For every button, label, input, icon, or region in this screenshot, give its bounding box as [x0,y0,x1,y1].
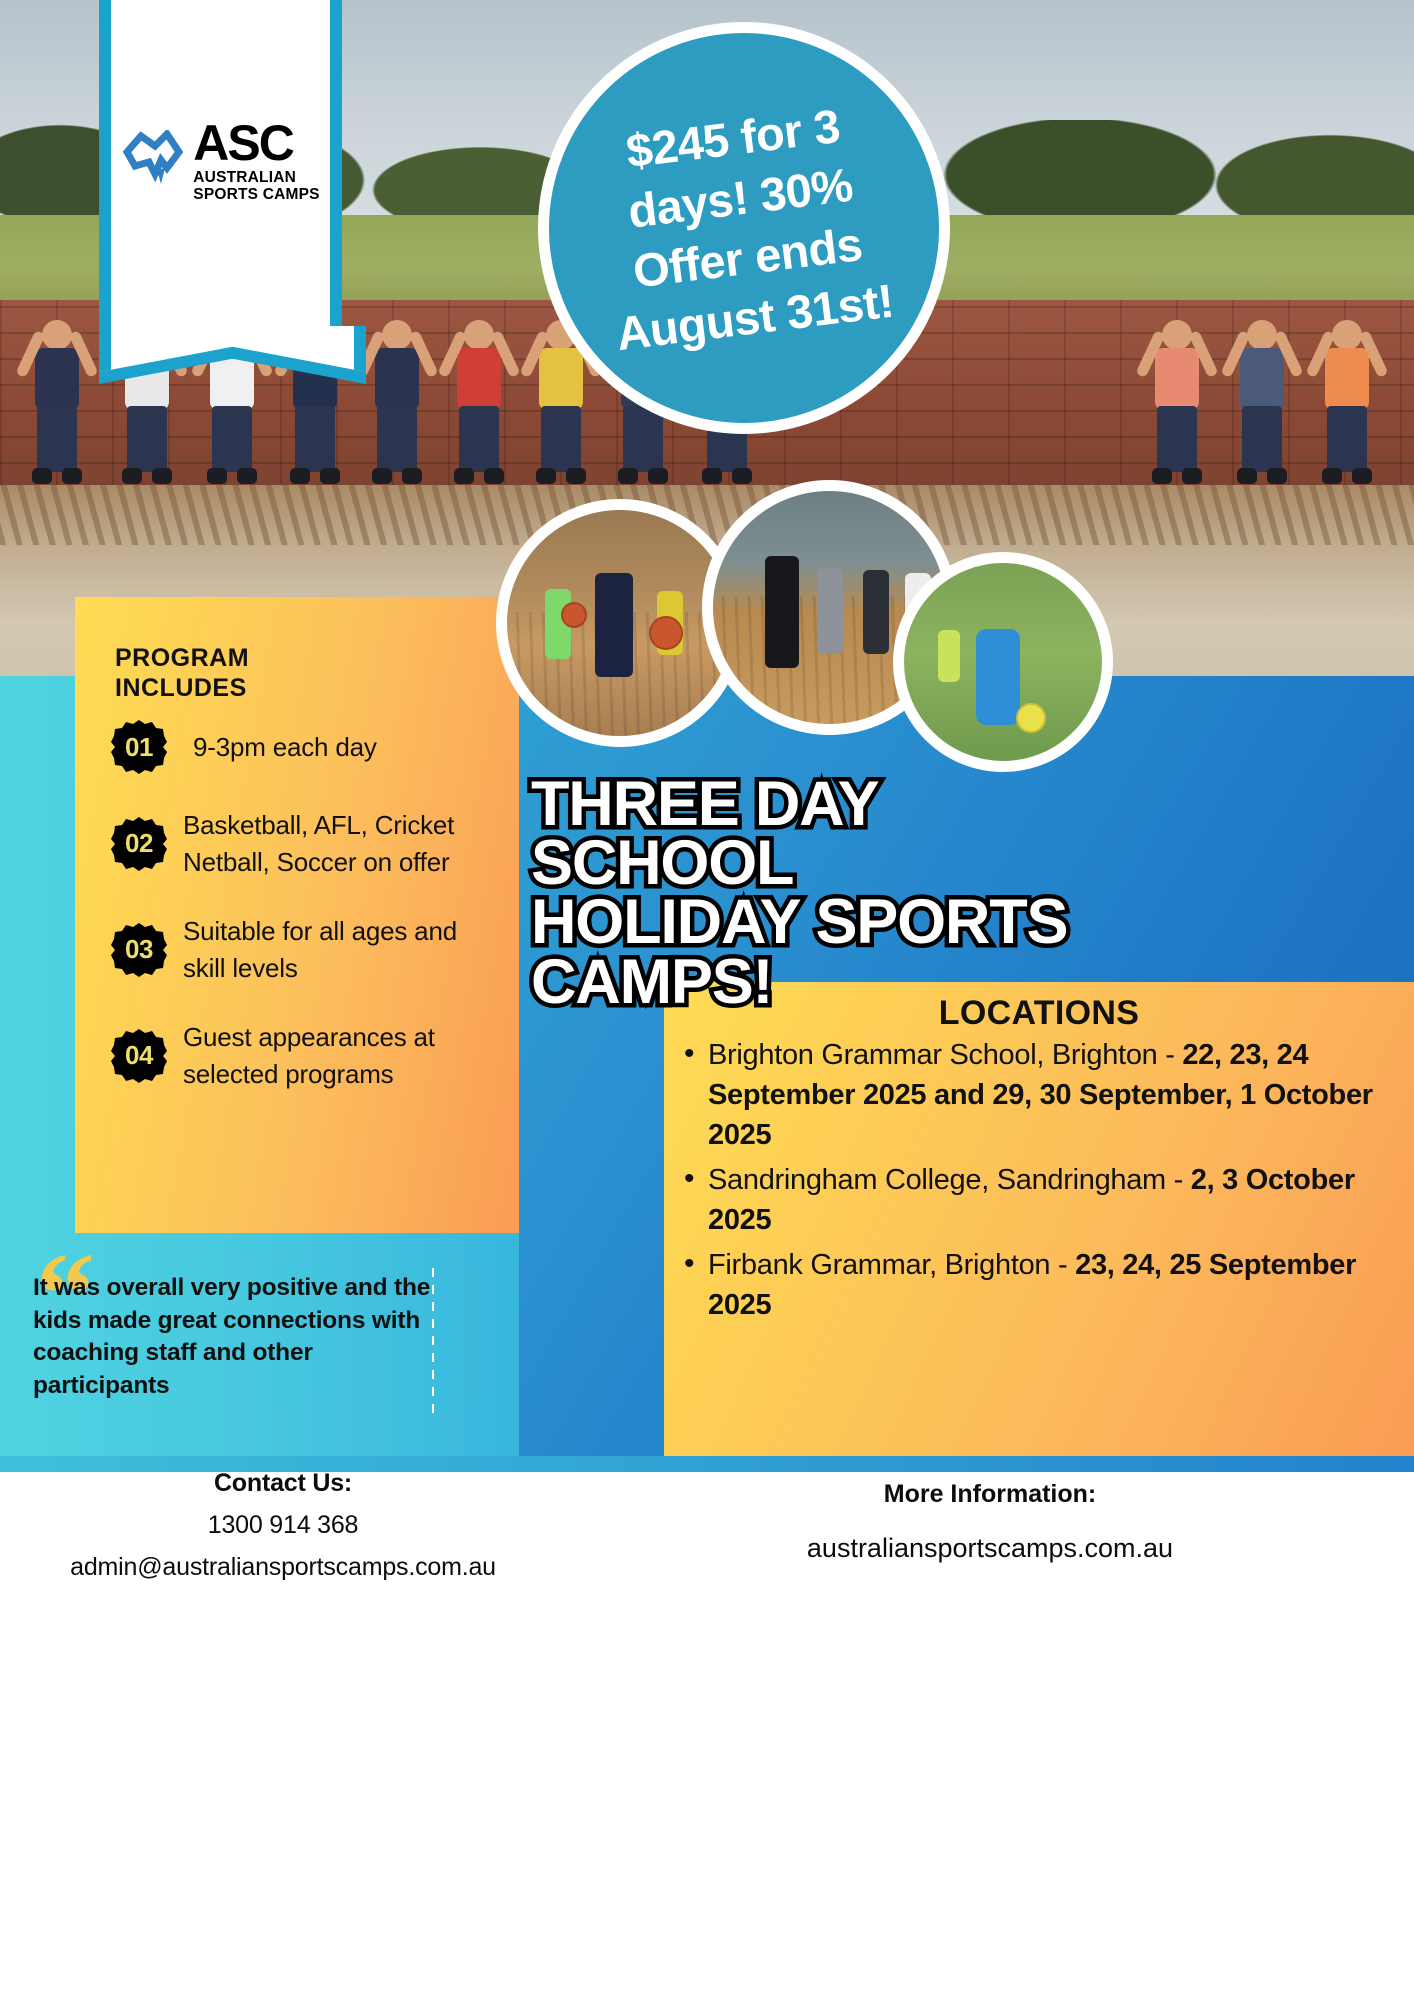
program-includes-box: PROGRAM INCLUDES 01 9-3pm each day 02 Ba… [75,597,519,1233]
program-item: 02 Basketball, AFL, Cricket Netball, Soc… [111,807,501,881]
program-item-text: Suitable for all ages and skill levels [183,913,501,987]
hero-child [1235,320,1289,490]
program-items-list: 01 9-3pm each day 02 Basketball, AFL, Cr… [111,719,501,1124]
number-badge-icon: 03 [111,922,167,978]
contact-email[interactable]: admin@australiansportscamps.com.au [0,1553,566,1582]
main-title-line1: THREE DAY [531,775,1131,834]
logo-subtitle-line1: AUSTRALIAN [193,170,319,186]
soccer-photo-circle [893,552,1113,772]
flyer-root: ASC AUSTRALIAN SPORTS CAMPS $245 for 3 d… [0,0,1414,2000]
program-heading-line1: PROGRAM [115,644,249,674]
hero-child [1320,320,1374,490]
hero-child [370,320,424,490]
location-place: Brighton Grammar School, Brighton - [708,1039,1182,1071]
location-place: Firbank Grammar, Brighton - [708,1249,1075,1281]
program-heading: PROGRAM INCLUDES [115,644,249,703]
program-item-text: 9-3pm each day [193,729,377,766]
testimonial-text: It was overall very positive and the kid… [33,1272,433,1402]
hero-child [30,320,84,490]
location-item: Sandringham College, Sandringham - 2, 3 … [708,1160,1388,1240]
number-badge-icon: 02 [111,816,167,872]
logo-asc-text: ASC [193,118,319,168]
location-item: Brighton Grammar School, Brighton - 22, … [708,1035,1388,1155]
offer-badge: $245 for 3 days! 30% Offer ends August 3… [538,22,950,434]
program-item-number: 01 [125,732,153,763]
main-title: THREE DAY SCHOOL HOLIDAY SPORTS CAMPS! [531,775,1131,1012]
footer: Contact Us: 1300 914 368 admin@australia… [0,1472,1414,2000]
testimonial-divider [432,1268,434,1420]
program-item-text: Guest appearances at selected programs [183,1019,501,1093]
hero-child [1150,320,1204,490]
locations-box: LOCATIONS Brighton Grammar School, Brigh… [664,982,1414,1456]
logo-banner: ASC AUSTRALIAN SPORTS CAMPS [99,0,342,328]
location-place: Sandringham College, Sandringham - [708,1164,1191,1196]
locations-list: Brighton Grammar School, Brighton - 22, … [686,1035,1392,1325]
program-item: 01 9-3pm each day [111,719,501,775]
location-item: Firbank Grammar, Brighton - 23, 24, 25 S… [708,1245,1388,1325]
offer-badge-text: $245 for 3 days! 30% Offer ends August 3… [566,88,923,367]
more-information-heading: More Information: [566,1480,1414,1509]
number-badge-icon: 04 [111,1028,167,1084]
main-title-line4: CAMPS! [531,953,1131,1012]
program-item-text: Basketball, AFL, Cricket Netball, Soccer… [183,807,501,881]
footer-contact-block: Contact Us: 1300 914 368 admin@australia… [0,1469,566,1582]
contact-phone[interactable]: 1300 914 368 [0,1511,566,1540]
contact-heading: Contact Us: [0,1469,566,1498]
website-link[interactable]: australiansportscamps.com.au [566,1533,1414,1564]
program-item: 03 Suitable for all ages and skill level… [111,913,501,987]
hero-child [452,320,506,490]
program-item-number: 04 [125,1040,153,1071]
program-item-number: 03 [125,934,153,965]
program-heading-line2: INCLUDES [115,674,249,704]
footer-more-info-block: More Information: australiansportscamps.… [566,1480,1414,1564]
logo-subtitle-line2: SPORTS CAMPS [193,187,319,203]
number-badge-icon: 01 [111,719,167,775]
program-item: 04 Guest appearances at selected program… [111,1019,501,1093]
australia-map-icon [121,130,185,190]
main-title-line3: HOLIDAY SPORTS [531,893,1131,952]
main-title-line2: SCHOOL [531,834,1131,893]
program-item-number: 02 [125,828,153,859]
